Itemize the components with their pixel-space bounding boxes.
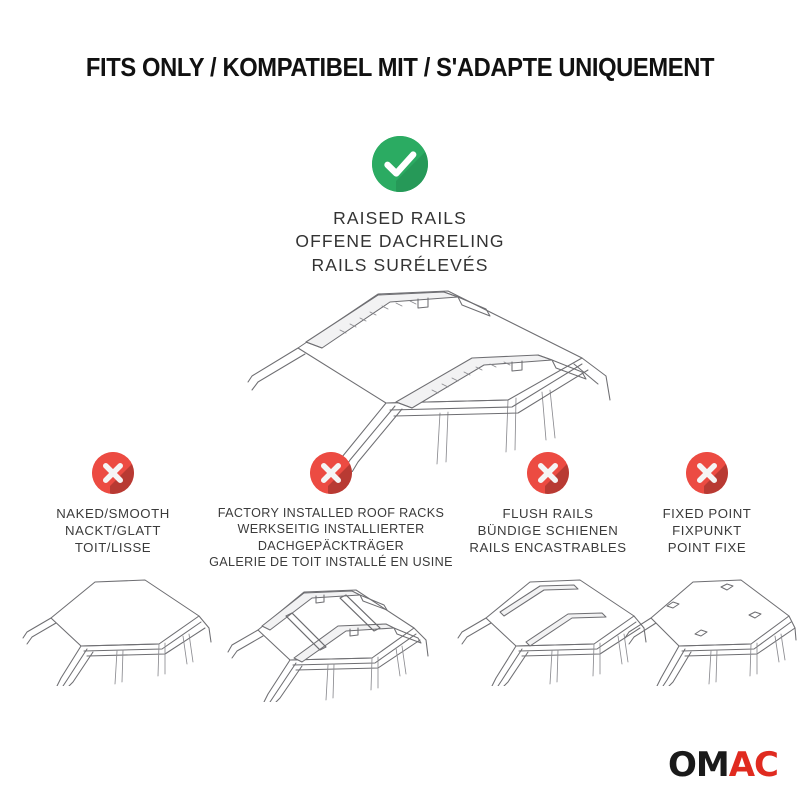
- label-de: FIXPUNKT: [663, 522, 752, 539]
- incompatible-labels: FLUSH RAILS BÜNDIGE SCHIENEN RAILS ENCAS…: [469, 505, 626, 556]
- compatible-label-en: RAISED RAILS: [295, 207, 504, 230]
- car-roof-with-raised-rails-illustration: [190, 272, 620, 472]
- incompatible-labels: FACTORY INSTALLED ROOF RACKS WERKSEITIG …: [209, 505, 453, 570]
- compatible-label-de: OFFENE DACHRELING: [295, 230, 504, 253]
- label-de-1: WERKSEITIG INSTALLIERTER: [209, 521, 453, 537]
- page-title: FITS ONLY / KOMPATIBEL MIT / S'ADAPTE UN…: [28, 54, 772, 83]
- check-circle-icon: [372, 136, 428, 192]
- logo-text-red: AC: [729, 745, 778, 785]
- incompatible-item-factory-installed-roof-racks: FACTORY INSTALLED ROOF RACKS WERKSEITIG …: [208, 452, 454, 707]
- compatible-labels: RAISED RAILS OFFENE DACHRELING RAILS SUR…: [295, 207, 504, 277]
- compatibility-infographic: FITS ONLY / KOMPATIBEL MIT / S'ADAPTE UN…: [0, 0, 800, 800]
- label-en: FLUSH RAILS: [469, 505, 626, 522]
- incompatible-section: NAKED/SMOOTH NACKT/GLATT TOIT/LISSE: [0, 452, 800, 702]
- x-circle-icon: [527, 452, 569, 494]
- car-roof-with-fixed-points-illustration: [617, 566, 797, 691]
- omac-logo: OMAC: [668, 748, 778, 782]
- incompatible-item-fixed-point: FIXED POINT FIXPUNKT POINT FIXE: [632, 452, 782, 691]
- incompatible-labels: NAKED/SMOOTH NACKT/GLATT TOIT/LISSE: [56, 505, 170, 556]
- x-circle-icon: [310, 452, 352, 494]
- incompatible-item-flush-rails: FLUSH RAILS BÜNDIGE SCHIENEN RAILS ENCAS…: [454, 452, 642, 691]
- x-circle-icon: [686, 452, 728, 494]
- logo-text-dark: OM: [668, 745, 729, 785]
- label-fr: POINT FIXE: [663, 539, 752, 556]
- label-fr: TOIT/LISSE: [56, 539, 170, 556]
- incompatible-labels: FIXED POINT FIXPUNKT POINT FIXE: [663, 505, 752, 556]
- label-en: NAKED/SMOOTH: [56, 505, 170, 522]
- compatible-section: RAISED RAILS OFFENE DACHRELING RAILS SUR…: [0, 136, 800, 277]
- label-de: NACKT/GLATT: [56, 522, 170, 539]
- car-roof-bare-illustration: [13, 566, 213, 691]
- incompatible-item-naked-smooth: NAKED/SMOOTH NACKT/GLATT TOIT/LISSE: [18, 452, 208, 691]
- label-en: FIXED POINT: [663, 505, 752, 522]
- x-circle-icon: [92, 452, 134, 494]
- label-de-2: DACHGEPÄCKTRÄGER: [209, 538, 453, 554]
- car-roof-with-factory-crossbars-illustration: [216, 572, 446, 707]
- label-en: FACTORY INSTALLED ROOF RACKS: [209, 505, 453, 521]
- label-fr: RAILS ENCASTRABLES: [469, 539, 626, 556]
- label-fr: GALERIE DE TOIT INSTALLÉ EN USINE: [209, 554, 453, 570]
- label-de: BÜNDIGE SCHIENEN: [469, 522, 626, 539]
